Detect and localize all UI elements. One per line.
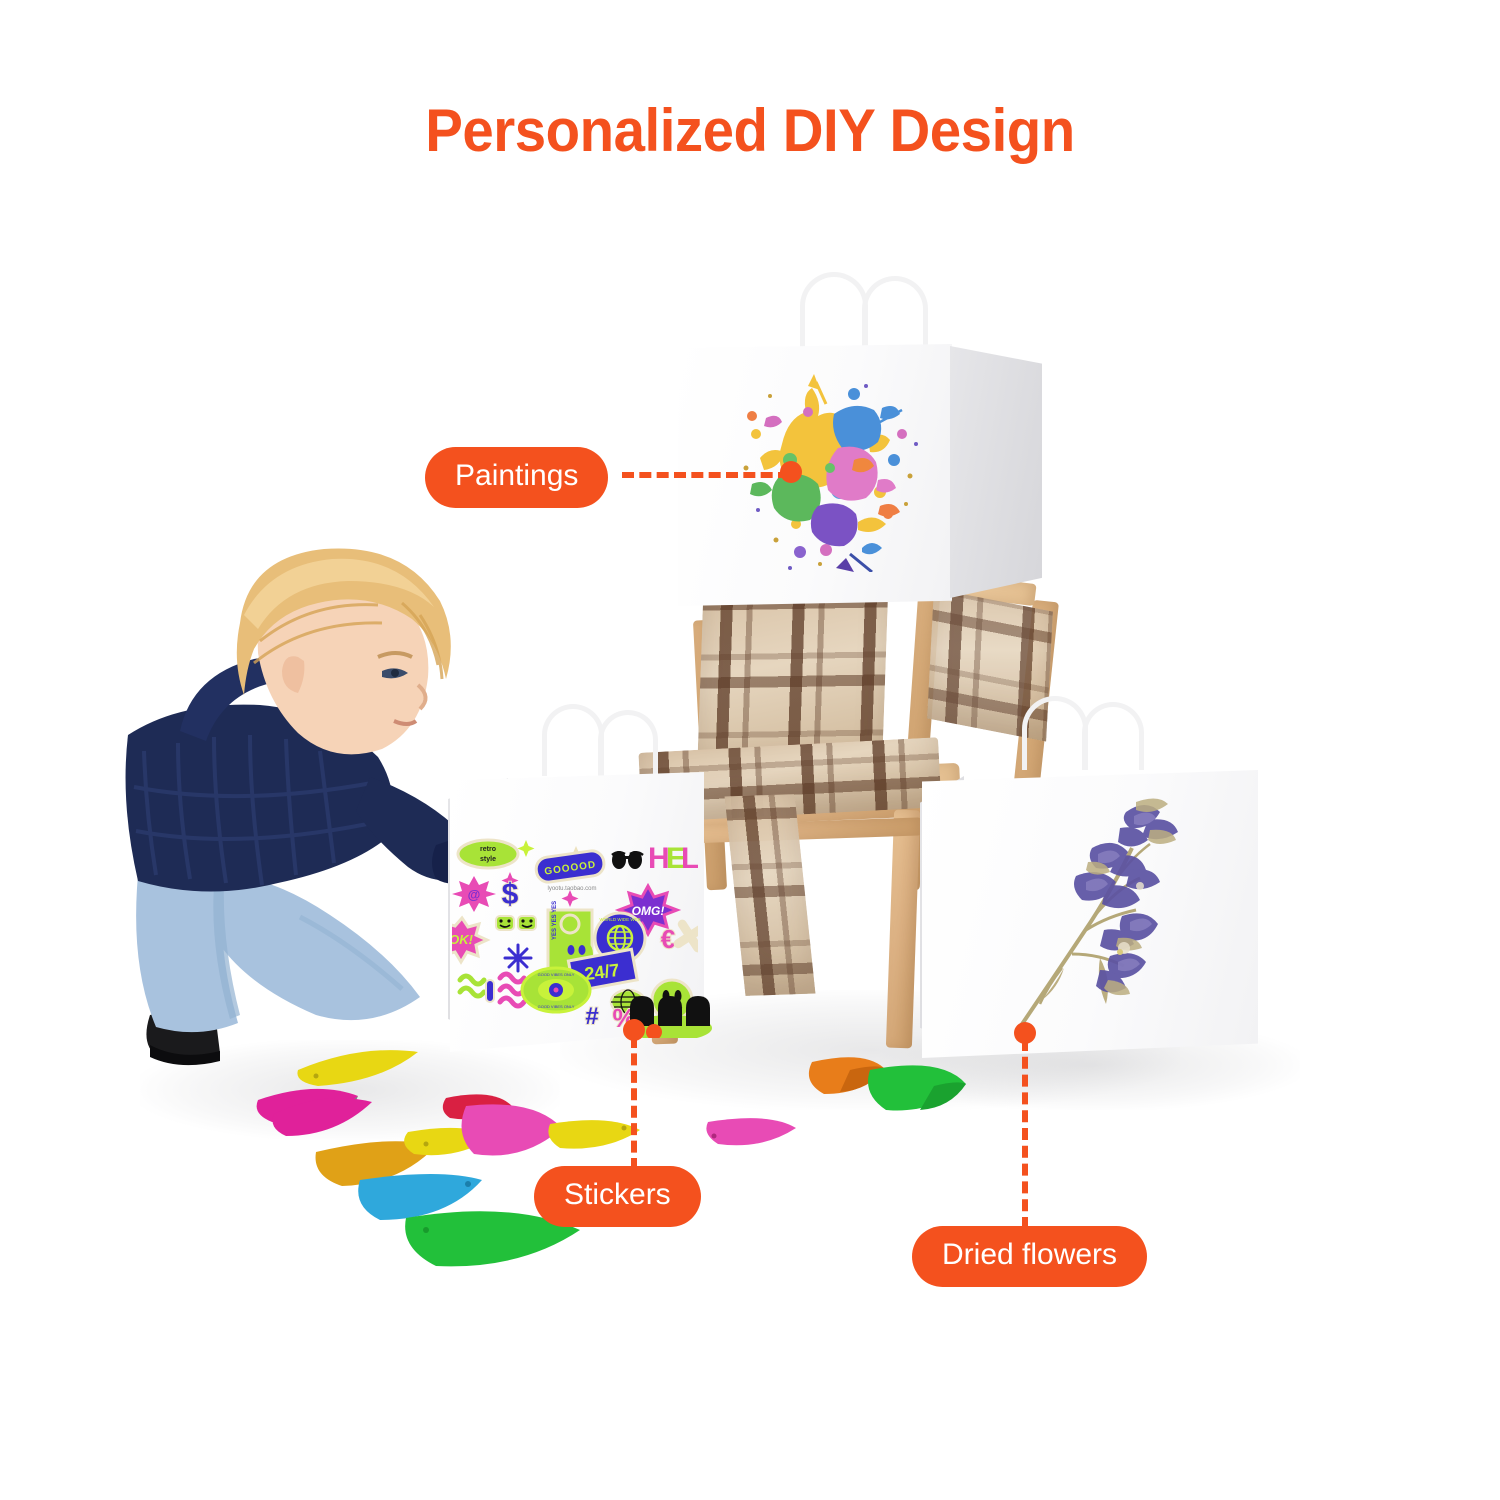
product-image-canvas: Personalized DIY Design	[0, 0, 1500, 1500]
bag-handle	[598, 710, 658, 776]
bag-handle	[1082, 702, 1144, 770]
callout-label-stickers: Stickers	[564, 1178, 671, 1211]
callout-pill-stickers[interactable]: Stickers	[534, 1166, 701, 1227]
svg-text:@: @	[468, 887, 481, 902]
svg-text:$: $	[502, 878, 519, 911]
callout-line-stickers	[631, 1036, 637, 1170]
product-scene-photo: retro style GOOOOD	[0, 0, 1500, 1500]
pressed-flower-design	[1000, 790, 1190, 1050]
callout-pill-dried-flowers[interactable]: Dried flowers	[912, 1226, 1147, 1287]
svg-text:#: #	[585, 1003, 598, 1027]
callout-label-paintings: Paintings	[455, 459, 578, 492]
callout-dot-stickers	[623, 1019, 645, 1041]
bag-handle	[800, 272, 868, 348]
callout-line-dried-flowers	[1022, 1039, 1028, 1229]
svg-text:OMG!: OMG!	[632, 904, 665, 918]
svg-text:€: €	[661, 924, 675, 954]
bag-handle	[862, 276, 928, 348]
callout-dot-dried-flowers	[1014, 1022, 1036, 1044]
svg-text:lyootu.taobao.com: lyootu.taobao.com	[547, 886, 596, 892]
svg-text:YES YES YES: YES YES YES	[552, 901, 558, 940]
svg-text:GOOD VIBES ONLY: GOOD VIBES ONLY	[538, 972, 575, 977]
svg-text:GOOD VIBES ONLY: GOOD VIBES ONLY	[538, 1004, 575, 1009]
paper-bag-dried-flowers	[912, 690, 1272, 1070]
paper-cutouts	[250, 1040, 970, 1270]
callout-label-dried-flowers: Dried flowers	[942, 1238, 1117, 1271]
bag-handle	[542, 704, 604, 776]
paper-bag-paintings	[672, 268, 1044, 613]
paper-bag-stickers: retro style GOOOOD	[442, 700, 762, 1060]
bag-side-gusset	[950, 346, 1042, 598]
svg-text:OK!: OK!	[452, 932, 474, 947]
svg-text:retro: retro	[480, 846, 496, 853]
paper-cutout	[268, 1080, 388, 1150]
callout-dot-paintings	[780, 461, 802, 483]
bag-handle	[1022, 696, 1088, 770]
callout-line-paintings	[622, 472, 790, 478]
svg-text:style: style	[480, 856, 496, 863]
svg-text:24/7: 24/7	[583, 960, 620, 984]
svg-text:WORLD WIDE WEB: WORLD WIDE WEB	[599, 917, 640, 922]
callout-pill-paintings[interactable]: Paintings	[425, 447, 608, 508]
